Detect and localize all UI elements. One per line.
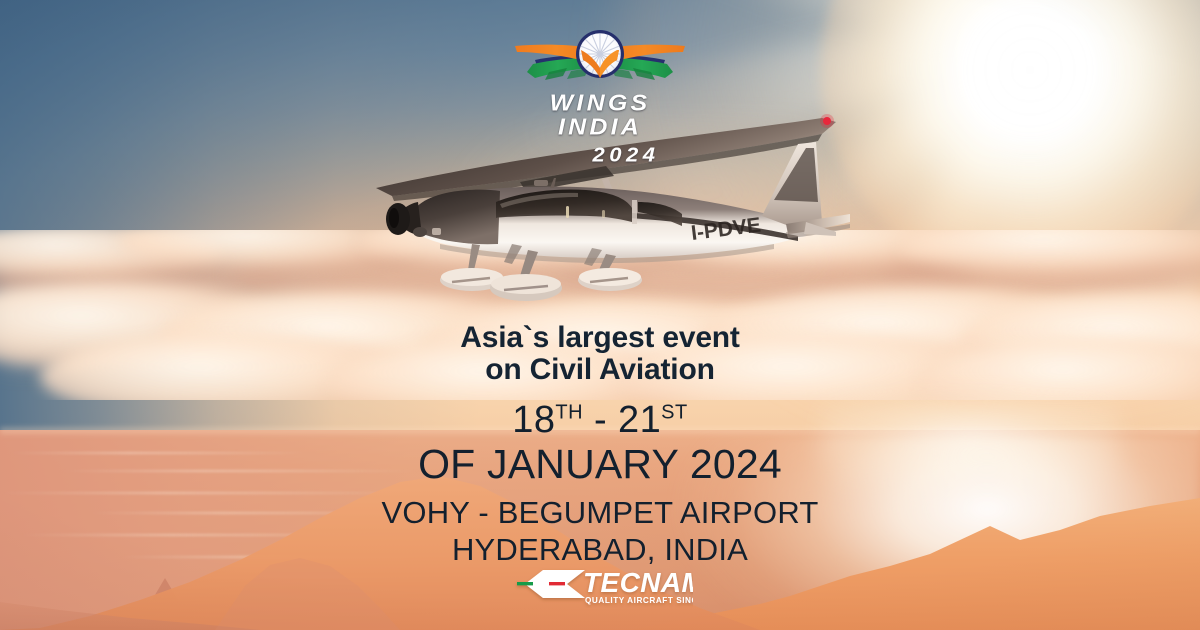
svg-text:QUALITY AIRCRAFT SINCE 1948: QUALITY AIRCRAFT SINCE 1948: [585, 596, 693, 605]
event-venue: VOHY - BEGUMPET AIRPORT HYDERABAD, INDIA: [0, 494, 1200, 568]
event-dates: 18TH - 21ST: [0, 401, 1200, 439]
svg-text:TECNAM: TECNAM: [583, 567, 693, 598]
headline-line-2: on Civil Aviation: [0, 354, 1200, 386]
headline: Asia`s largest event on Civil Aviation: [0, 322, 1200, 387]
promotional-poster: I-PDVE: [0, 0, 1200, 630]
wings-india-year: 2024: [557, 143, 695, 167]
headline-line-1: Asia`s largest event: [460, 321, 739, 354]
wings-india-logo: WINGS INDIA 2024: [505, 24, 695, 136]
winged-ashoka-chakra-icon: [505, 24, 695, 92]
date-start-ordinal: TH: [555, 401, 583, 423]
tecnam-logo: TECNAM QUALITY AIRCRAFT SINCE 1948: [507, 562, 693, 608]
date-end-day: 21: [618, 399, 661, 441]
venue-line-1: VOHY - BEGUMPET AIRPORT: [0, 494, 1200, 531]
date-start-day: 18: [512, 399, 555, 441]
date-separator: -: [594, 399, 607, 441]
triple-chevron-icon: [517, 570, 585, 598]
event-copy-block: Asia`s largest event on Civil Aviation 1…: [0, 322, 1200, 568]
date-end-ordinal: ST: [661, 401, 688, 423]
event-month-year: OF JANUARY 2024: [0, 444, 1200, 485]
wings-india-wordmark: WINGS INDIA: [505, 92, 695, 139]
